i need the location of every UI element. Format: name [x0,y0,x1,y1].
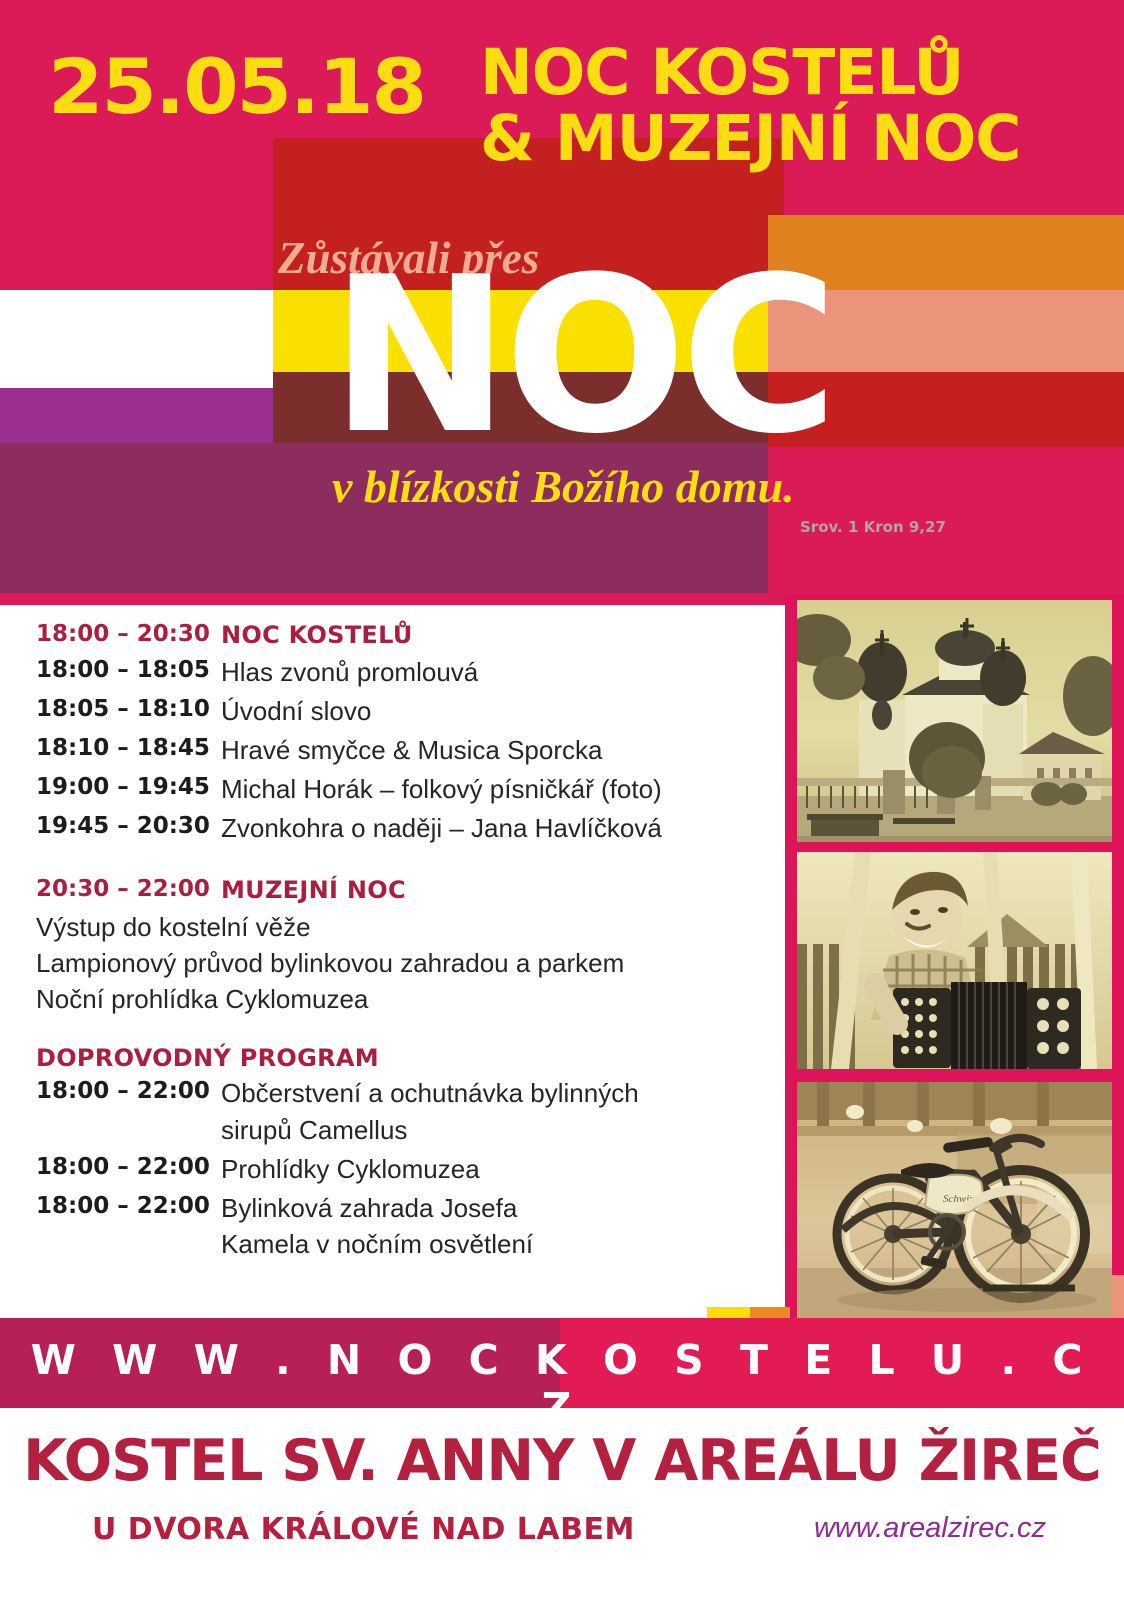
section-header-label: DOPROVODNÝ PROGRAM [36,1044,766,1072]
church-photo [797,600,1112,842]
event-date: 25.05.18 [48,42,425,131]
quote-line-bottom: v blízkosti Božího domu. [332,460,795,513]
block-purple [0,388,273,443]
program-plain-line: Výstup do kostelní věže [36,909,766,945]
program-section-muzejni-noc: 20:30 – 22:00 MUZEJNÍ NOC Výstup do kost… [36,873,766,1018]
program-row-time: 19:45 – 20:30 [36,810,221,843]
program-row: 18:00 – 22:00 Prohlídky Cyklomuzea [36,1151,766,1188]
program-row: 18:00 – 22:00 Bylinková zahrada Josefa K… [36,1190,766,1264]
program-section-noc-kostelu: 18:00 – 20:30 NOC KOSTELŮ 18:00 – 18:05 … [36,618,766,847]
event-title: NOC KOSTELŮ & MUZEJNÍ NOC [480,40,1080,171]
program-row-time: 18:00 – 22:00 [36,1075,221,1108]
program-row: 18:00 – 22:00 Občerstvení a ochutnávka b… [36,1075,766,1149]
program-row-desc: Občerstvení a ochutnávka bylinných sirup… [221,1075,639,1149]
program-list: 18:00 – 20:30 NOC KOSTELŮ 18:00 – 18:05 … [36,618,766,1289]
program-row-desc: Prohlídky Cyklomuzea [221,1151,480,1188]
program-row-desc: Úvodní slovo [221,693,371,730]
program-row-time: 19:00 – 19:45 [36,771,221,804]
program-row-desc-line2: sirupů Camellus [221,1112,639,1149]
program-section-doprovodny-program: DOPROVODNÝ PROGRAM 18:00 – 22:00 Občerst… [36,1044,766,1264]
musician-photo [797,852,1112,1069]
poster-root: 25.05.18 NOC KOSTELŮ & MUZEJNÍ NOC Zůstá… [0,0,1124,1600]
program-plain-line: Lampionový průvod bylinkovou zahradou a … [36,945,766,981]
program-row: 18:05 – 18:10 Úvodní slovo [36,693,766,730]
program-plain-line: Noční prohlídka Cyklomuzea [36,981,766,1017]
section-header: 18:00 – 20:30 NOC KOSTELŮ [36,618,766,652]
program-row: 19:00 – 19:45 Michal Horák – folkový pís… [36,771,766,808]
event-title-line2: & MUZEJNÍ NOC [480,106,1080,172]
event-title-line1: NOC KOSTELŮ [480,36,963,109]
main-website-url[interactable]: W W W . N O C K O S T E L U . C Z [0,1336,1124,1432]
program-row-desc-line1: Bylinková zahrada Josefa [221,1193,517,1223]
program-row-time: 18:00 – 18:05 [36,654,221,687]
section-header-time: 20:30 – 22:00 [36,873,221,906]
quote-word-noc: NOC [330,268,833,444]
section-header: 20:30 – 22:00 MUZEJNÍ NOC [36,873,766,907]
program-row-time: 18:00 – 22:00 [36,1151,221,1184]
program-row-desc-line2: Kamela v nočním osvětlení [221,1226,533,1263]
block-white-left [0,290,273,388]
program-row-desc: Hravé smyčce & Musica Sporcka [221,732,602,769]
program-row: 19:45 – 20:30 Zvonkohra o naději – Jana … [36,810,766,847]
quote-reference: Srov. 1 Kron 9,27 [800,518,946,536]
venue-subtitle: U DVORA KRÁLOVÉ NAD LABEM [92,1512,635,1547]
program-row-desc-line1: Občerstvení a ochutnávka bylinných [221,1078,639,1108]
program-row-desc: Zvonkohra o naději – Jana Havlíčková [221,810,662,847]
venue-title: KOSTEL SV. ANNY V AREÁLU ŽIREČ [0,1428,1124,1494]
bicycle-photo: Schwinn [797,1082,1112,1318]
program-row-time: 18:10 – 18:45 [36,732,221,765]
program-row: 18:10 – 18:45 Hravé smyčce & Musica Spor… [36,732,766,769]
section-header-label: MUZEJNÍ NOC [221,873,406,907]
program-row: 18:00 – 18:05 Hlas zvonů promlouvá [36,654,766,691]
section-header-time: 18:00 – 20:30 [36,618,221,651]
program-row-time: 18:05 – 18:10 [36,693,221,726]
program-row-desc: Hlas zvonů promlouvá [221,654,478,691]
program-row-desc: Bylinková zahrada Josefa Kamela v nočním… [221,1190,533,1264]
program-row-desc: Michal Horák – folkový písničkář (foto) [221,771,662,808]
venue-website-url[interactable]: www.arealzirec.cz [814,1512,1046,1545]
section-header-label: NOC KOSTELŮ [221,618,413,652]
program-row-time: 18:00 – 22:00 [36,1190,221,1223]
